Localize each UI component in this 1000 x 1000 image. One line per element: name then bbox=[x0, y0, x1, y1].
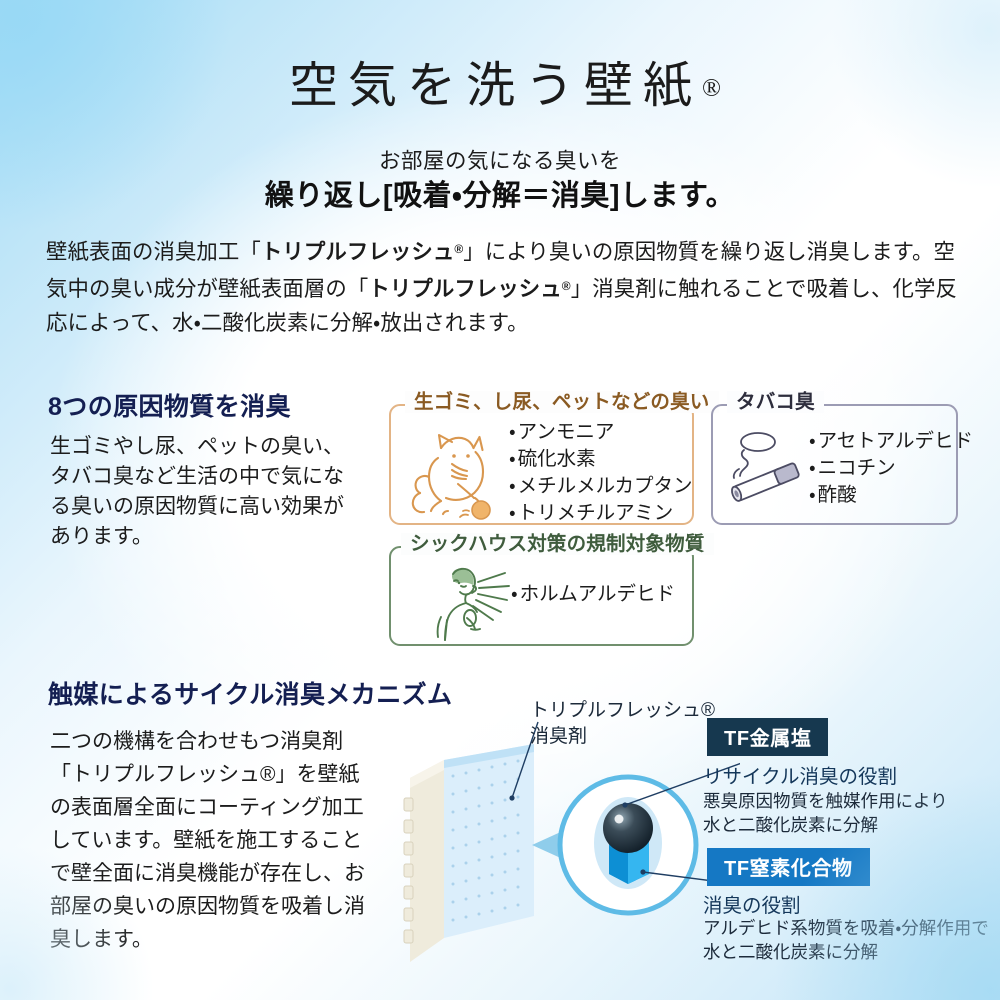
desc-tf-nitrogen-compound: アルデヒド系物質を吸着・分解作用で 水と二酸化炭素に分解 bbox=[703, 916, 989, 964]
odor-box-sickhouse-legend: シックハウス対策の規制対象物質 bbox=[401, 533, 714, 555]
desc-line-1: 悪臭原因物質を触媒作用により bbox=[703, 789, 948, 813]
diagram-label-line-1: トリプルフレッシュ® bbox=[530, 698, 715, 724]
odor-box-household-legend: 生ゴミ、し尿、ペットなどの臭い bbox=[405, 391, 719, 413]
desc-line-2: 水と二酸化炭素に分解 bbox=[703, 813, 948, 837]
subtitle-line-1: お部屋の気になる臭いを bbox=[0, 144, 1000, 175]
odor-box-sickhouse: シックハウス対策の規制対象物質 bbox=[389, 546, 694, 646]
section-body-substances: 生ゴミやし尿、ペットの臭い、タバコ臭など生活の中で気になる臭いの原因物質に高い効… bbox=[50, 432, 355, 552]
lead-brand-1: トリプルフレッシュ bbox=[261, 240, 454, 264]
role-tf-metal-salt: リサイクル消臭の役割 bbox=[703, 760, 897, 789]
lead-brand-1-sup: ® bbox=[454, 242, 463, 256]
section-heading-substances: 8つの原因物質を消臭 bbox=[48, 387, 291, 423]
odor-box-household: 生ゴミ、し尿、ペットなどの臭い bbox=[389, 404, 694, 525]
list-item: ・アセトアルデヒド bbox=[809, 428, 973, 455]
desc-tf-metal-salt: 悪臭原因物質を触媒作用により 水と二酸化炭素に分解 bbox=[703, 789, 948, 837]
cat-icon bbox=[397, 422, 507, 522]
odor-box-tobacco-legend: タバコ臭 bbox=[727, 391, 824, 413]
list-item: ・硫化水素 bbox=[509, 446, 693, 473]
list-item: ・トリメチルアミン bbox=[509, 500, 693, 527]
diagram-label-triplefresh: トリプルフレッシュ® 消臭剤 bbox=[530, 698, 715, 750]
role-tf-nitrogen-compound: 消臭の役割 bbox=[703, 889, 801, 918]
lead-part-1: 壁紙表面の消臭加工「 bbox=[46, 240, 261, 264]
page-title: 空気を洗う壁紙® bbox=[0, 46, 1000, 117]
odor-list-household: ・アンモニア ・硫化水素 ・メチルメルカプタン ・トリメチルアミン bbox=[509, 419, 693, 527]
diagram-label-line-2: 消臭剤 bbox=[530, 724, 715, 750]
infographic-page: 空気を洗う壁紙® お部屋の気になる臭いを 繰り返し[吸着・分解＝消臭]します。 … bbox=[0, 0, 1000, 1000]
list-item: ・ニコチン bbox=[809, 455, 973, 482]
odor-list-tobacco: ・アセトアルデヒド ・ニコチン ・酢酸 bbox=[809, 428, 973, 509]
odor-box-tobacco: タバコ臭 ・アセトアルデヒド ・ニコチン ・酢酸 bbox=[711, 404, 958, 525]
list-item: ・ホルムアルデヒド bbox=[511, 581, 675, 608]
desc-line-2: 水と二酸化炭素に分解 bbox=[703, 940, 989, 964]
list-item: ・メチルメルカプタン bbox=[509, 473, 693, 500]
badge-tf-nitrogen-compound: TF窒素化合物 bbox=[707, 848, 870, 886]
coughing-person-icon bbox=[421, 562, 513, 644]
registered-mark: ® bbox=[702, 75, 721, 102]
lead-paragraph: 壁紙表面の消臭加工「トリプルフレッシュ®」により臭いの原因物質を繰り返し消臭しま… bbox=[46, 232, 958, 340]
lead-brand-2-sup: ® bbox=[562, 279, 571, 293]
section-body-mechanism: 二つの機構を合わせもつ消臭剤「トリプルフレッシュ®」を壁紙の表面層全面にコーティ… bbox=[50, 725, 380, 956]
subtitle-line-2: 繰り返し[吸着・分解＝消臭]します。 bbox=[0, 172, 1000, 214]
desc-line-1: アルデヒド系物質を吸着・分解作用で bbox=[703, 916, 989, 940]
cigarette-icon bbox=[721, 426, 813, 506]
list-item: ・アンモニア bbox=[509, 419, 693, 446]
badge-tf-metal-salt: TF金属塩 bbox=[707, 718, 828, 756]
section-heading-mechanism: 触媒によるサイクル消臭メカニズム bbox=[48, 675, 452, 711]
list-item: ・酢酸 bbox=[809, 482, 973, 509]
lead-brand-2: トリプルフレッシュ bbox=[368, 277, 561, 301]
page-title-text: 空気を洗う壁紙 bbox=[289, 58, 702, 113]
odor-list-sickhouse: ・ホルムアルデヒド bbox=[511, 581, 675, 608]
